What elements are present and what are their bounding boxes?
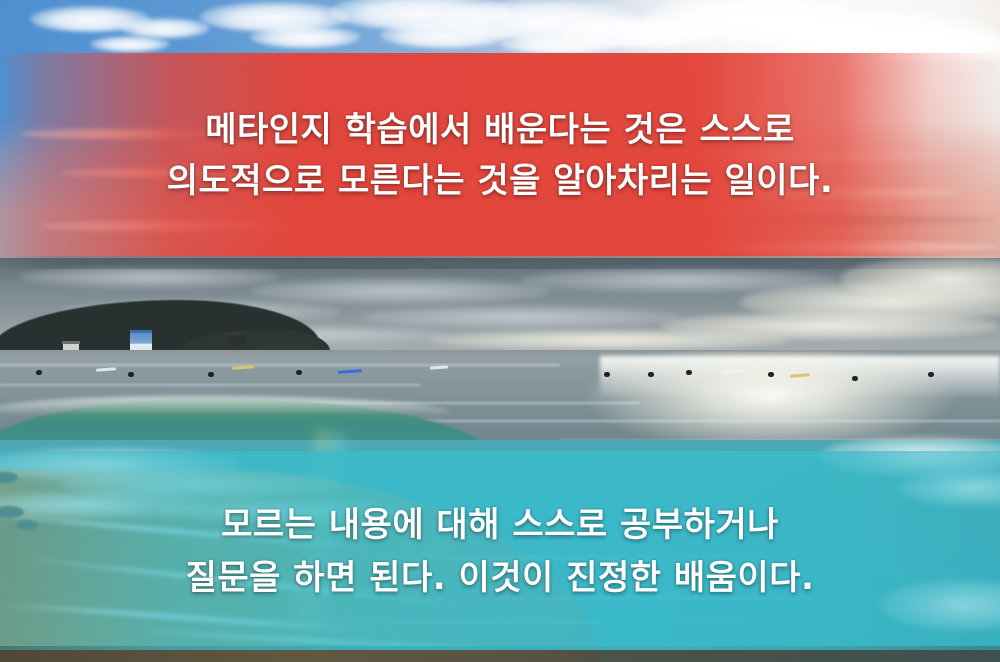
cloud-puff: [90, 36, 170, 52]
top-quote-line-2: 의도적으로 모른다는 것을 알아차리는 일이다.: [167, 159, 834, 203]
image-canvas: 메타인지 학습에서 배운다는 것은 스스로 의도적으로 모른다는 것을 알아차리…: [0, 0, 1000, 662]
surfer: [852, 376, 858, 381]
sea-ripple-line: [0, 384, 420, 386]
cloud-puff: [250, 26, 360, 48]
surfer: [128, 372, 134, 377]
cloud-wisp: [250, 278, 550, 304]
bottom-quote-line-2: 질문을 하면 된다. 이것이 진정한 배움이다.: [186, 556, 815, 600]
cloud-wisp: [360, 306, 680, 328]
cloud-wisp: [20, 266, 280, 288]
sea-ripple-line: [0, 364, 560, 366]
bottom-quote-line-1: 모르는 내용에 대해 스스로 공부하거나: [221, 503, 779, 547]
cloud-puff: [120, 18, 210, 38]
pavilion: [228, 334, 246, 347]
cloud-puff: [500, 34, 620, 54]
cyan-quote-band: 모르는 내용에 대해 스스로 공부하거나 질문을 하면 된다. 이것이 진정한 …: [0, 451, 1000, 650]
grey-divider-band: [0, 256, 1000, 269]
surfer: [768, 372, 774, 377]
sea-ripple-line: [380, 420, 1000, 422]
surfer: [604, 372, 610, 377]
surfer: [296, 370, 302, 375]
surfer: [686, 370, 692, 375]
cloud-wisp-bright: [430, 330, 790, 350]
top-quote-line-1: 메타인지 학습에서 배운다는 것은 스스로: [205, 108, 795, 152]
red-quote-band: 메타인지 학습에서 배운다는 것은 스스로 의도적으로 모른다는 것을 알아차리…: [0, 53, 1000, 256]
surfer: [36, 370, 42, 375]
surfer: [648, 372, 654, 377]
surfer: [208, 372, 214, 377]
surfer: [928, 372, 934, 377]
